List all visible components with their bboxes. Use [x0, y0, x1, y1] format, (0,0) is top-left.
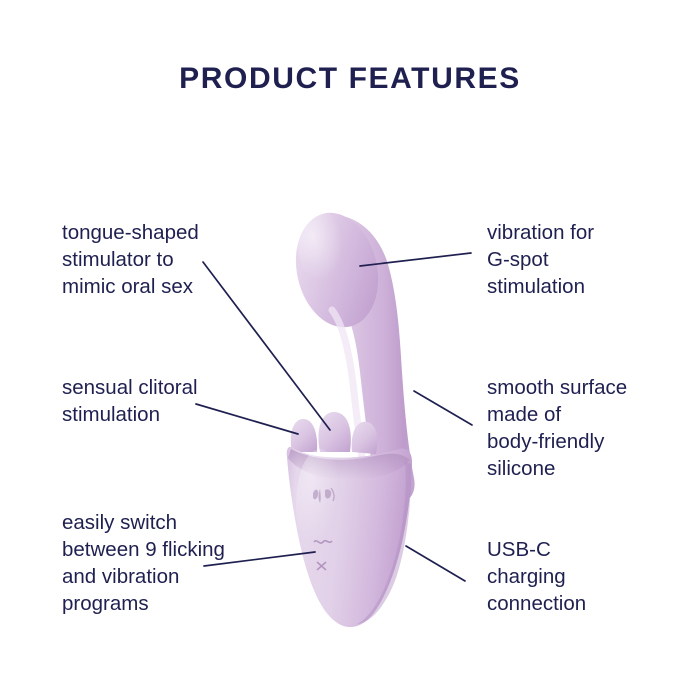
- callout-flicking-and-vibration-programs: easily switch between 9 flicking and vib…: [62, 509, 277, 617]
- product-features-infographic: PRODUCT FEATURES: [0, 0, 700, 700]
- tongue-stimulator: [291, 412, 378, 454]
- base-gloss: [296, 449, 344, 561]
- callout-sensual-clitoral-stimulation: sensual clitoral stimulation: [62, 374, 277, 428]
- callout-body-friendly-silicone: smooth surface made of body-friendly sil…: [487, 374, 667, 482]
- callout-g-spot-vibration: vibration for G-spot stimulation: [487, 219, 667, 300]
- callout-tongue-shaped-stimulator: tongue-shaped stimulator to mimic oral s…: [62, 219, 277, 300]
- tongue-lobe-center: [318, 412, 350, 452]
- tongue-lobe-left: [291, 419, 317, 452]
- callout-usb-c-charging: USB-C charging connection: [487, 536, 667, 617]
